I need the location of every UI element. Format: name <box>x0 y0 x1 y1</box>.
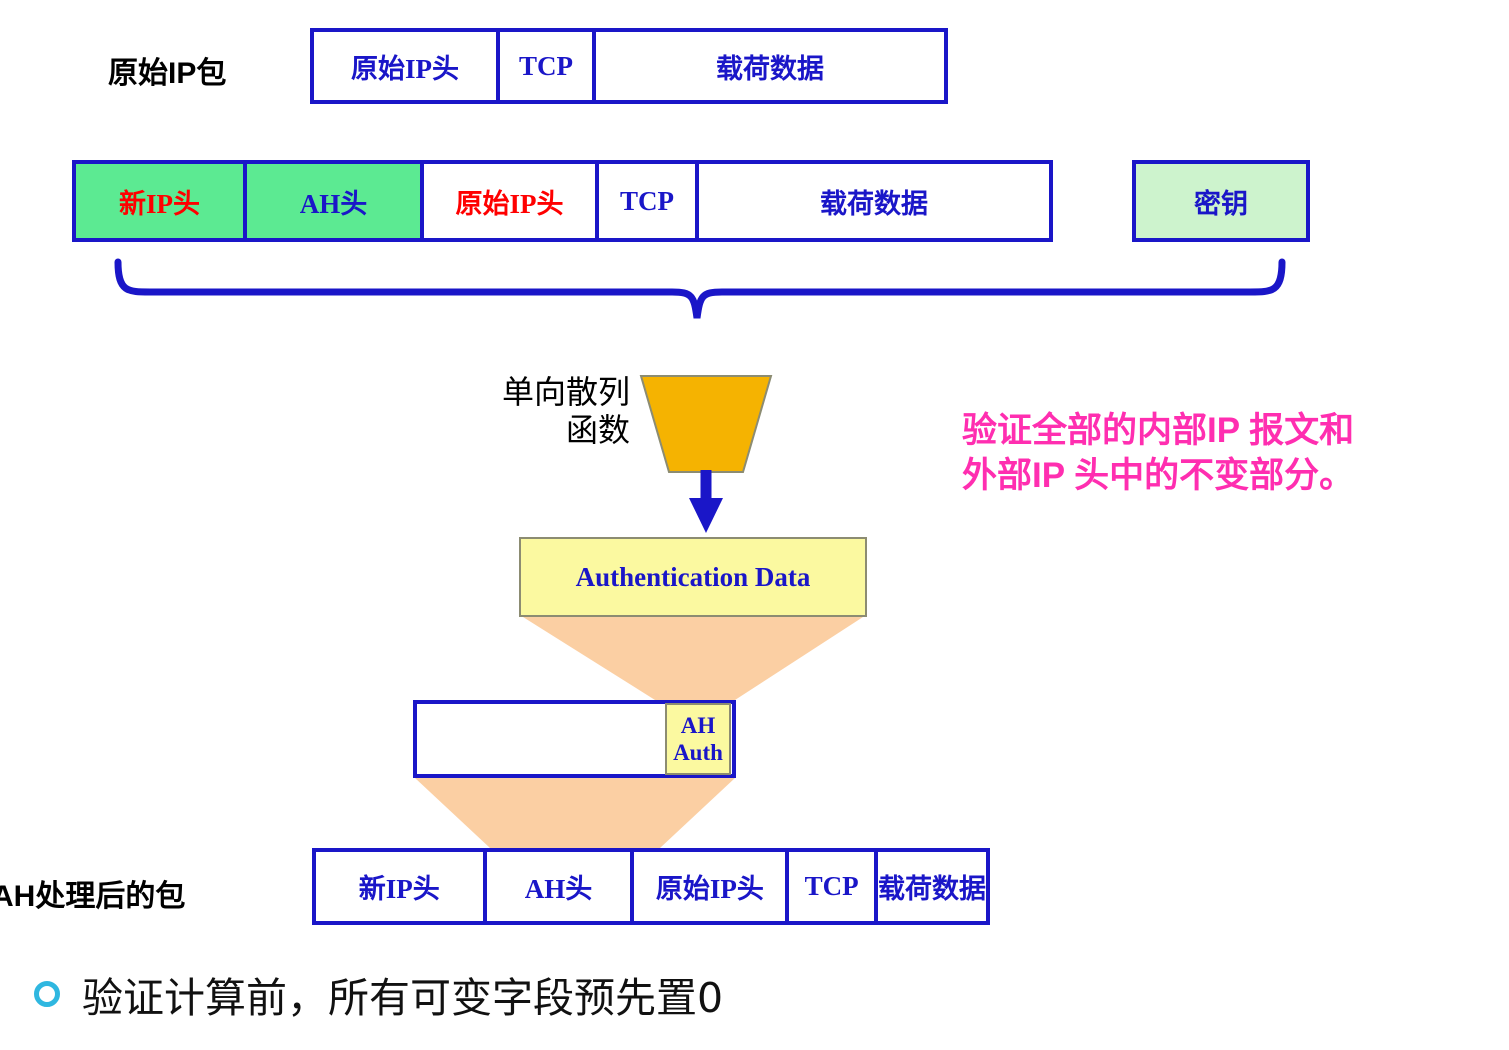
result-packet-row: 新IP头 AH头 原始IP头 TCP 载荷数据 <box>312 848 990 925</box>
footer-bullet-text: 验证计算前，所有可变字段预先置0 <box>82 964 723 1024</box>
original-packet-label: 原始IP包 <box>108 48 226 92</box>
field-to-packet-connector <box>415 778 735 848</box>
cell-tcp: TCP <box>496 32 592 100</box>
verification-note: 验证全部的内部IP 报文和外部IP 头中的不变部分。 <box>962 409 1354 499</box>
hash-function-label: 单向散列函数 <box>470 374 630 450</box>
cell-result-original-ip-header: 原始IP头 <box>630 852 785 921</box>
tunnel-packet-row: 新IP头 AH头 原始IP头 TCP 载荷数据 <box>72 160 1053 242</box>
footer-bullet-item: 验证计算前，所有可变字段预先置0 <box>34 964 723 1024</box>
cell-new-ip-header: 新IP头 <box>76 164 243 238</box>
ah-auth-line1: AH <box>681 712 716 739</box>
verification-note-line1: 验证全部的内部IP 报文和 <box>962 411 1354 450</box>
cell-result-payload: 载荷数据 <box>874 852 986 921</box>
cell-ah-header: AH头 <box>243 164 420 238</box>
cell-tcp-inner: TCP <box>595 164 695 238</box>
cell-result-ah-header: AH头 <box>483 852 631 921</box>
grouping-brace <box>118 262 1282 318</box>
hash-arrow-head <box>689 498 723 533</box>
hash-function-funnel <box>641 376 771 472</box>
cell-payload: 载荷数据 <box>592 32 944 100</box>
auth-to-field-connector <box>523 617 863 700</box>
ah-auth-field: AH Auth <box>665 703 731 775</box>
hash-label-line2: 函数 <box>566 411 630 449</box>
key-box: 密钥 <box>1132 160 1310 242</box>
ring-bullet-icon <box>34 981 60 1007</box>
cell-payload-inner: 载荷数据 <box>695 164 1049 238</box>
verification-note-line2: 外部IP 头中的不变部分。 <box>962 456 1354 495</box>
authentication-data-box: Authentication Data <box>519 537 867 617</box>
original-packet-row: 原始IP头 TCP 载荷数据 <box>310 28 948 104</box>
cell-original-ip-header-inner: 原始IP头 <box>420 164 595 238</box>
cell-result-new-ip-header: 新IP头 <box>316 852 483 921</box>
cell-result-tcp: TCP <box>785 852 874 921</box>
cell-original-ip-header: 原始IP头 <box>314 32 496 100</box>
hash-label-line1: 单向散列 <box>502 373 630 411</box>
result-packet-label: AH处理后的包 <box>0 871 185 915</box>
ah-auth-line2: Auth <box>673 739 723 766</box>
